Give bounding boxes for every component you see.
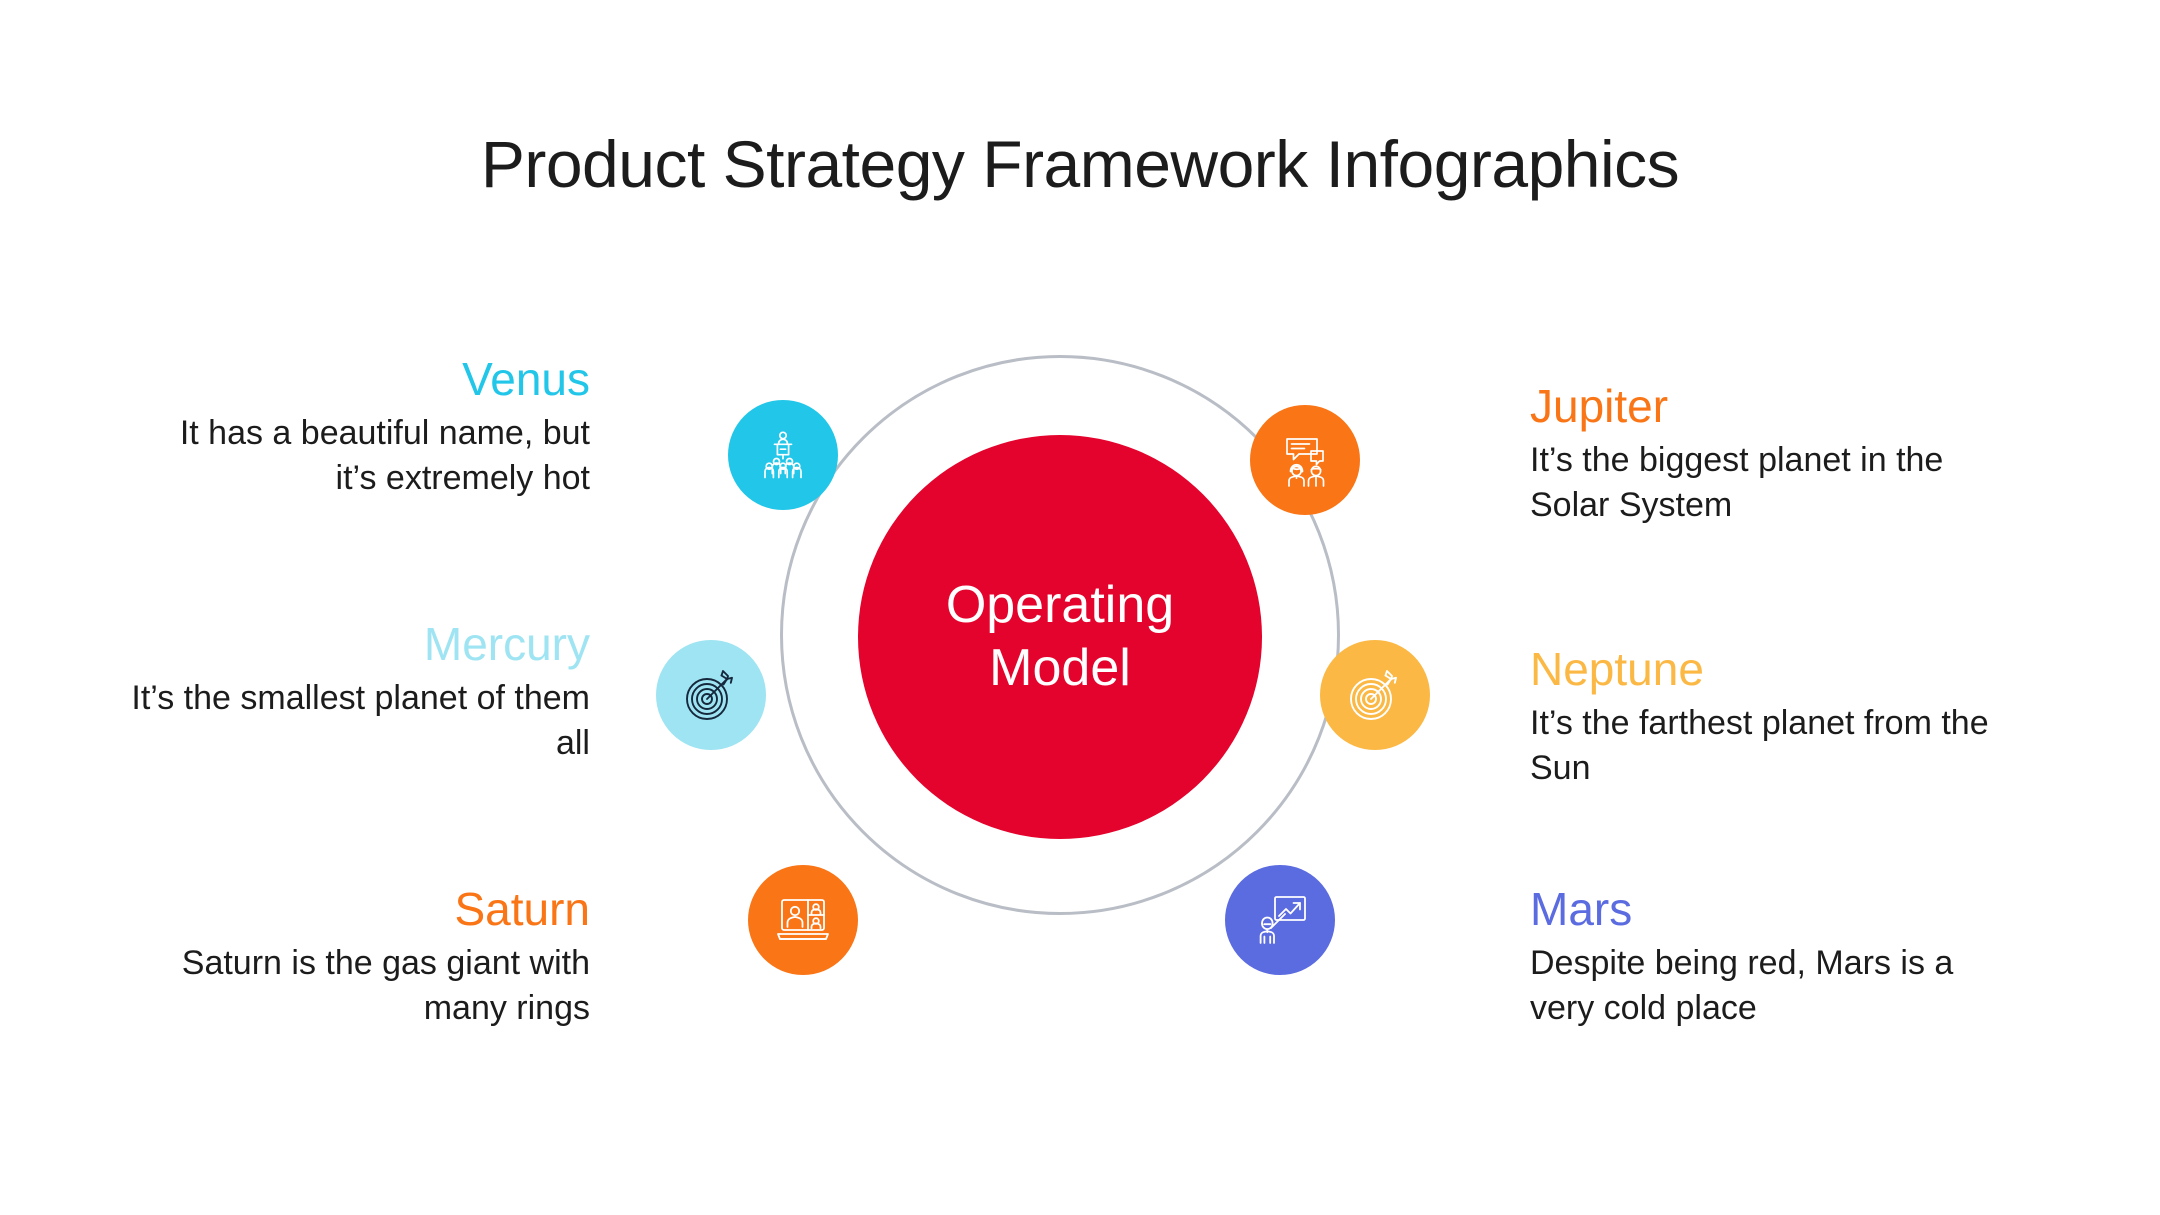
target-arrow-icon	[1347, 667, 1403, 723]
node-mars[interactable]	[1225, 865, 1335, 975]
planet-desc-neptune: It’s the farthest planet from the Sun	[1530, 701, 1990, 792]
center-circle[interactable]: Operating Model	[858, 435, 1262, 839]
video-conference-laptop-icon	[774, 891, 832, 949]
planet-name-saturn: Saturn	[130, 885, 590, 935]
node-saturn[interactable]	[748, 865, 858, 975]
planet-name-mars: Mars	[1530, 885, 1990, 935]
info-block-venus: Venus It has a beautiful name, but it’s …	[130, 355, 590, 502]
info-block-neptune: Neptune It’s the farthest planet from th…	[1530, 645, 1990, 792]
info-block-saturn: Saturn Saturn is the gas giant with many…	[130, 885, 590, 1032]
planet-name-mercury: Mercury	[130, 620, 590, 670]
center-label: Operating Model	[926, 574, 1194, 701]
page-title: Product Strategy Framework Infographics	[0, 128, 2160, 201]
node-venus[interactable]	[728, 400, 838, 510]
planet-desc-jupiter: It’s the biggest planet in the Solar Sys…	[1530, 438, 1990, 529]
node-jupiter[interactable]	[1250, 405, 1360, 515]
planet-desc-venus: It has a beautiful name, but it’s extrem…	[130, 411, 590, 502]
presenter-audience-icon	[756, 428, 810, 482]
planet-desc-mercury: It’s the smallest planet of them all	[130, 676, 590, 767]
planet-desc-saturn: Saturn is the gas giant with many rings	[130, 941, 590, 1032]
info-block-jupiter: Jupiter It’s the biggest planet in the S…	[1530, 382, 1990, 529]
framework-diagram: Operating Model	[640, 330, 1480, 1050]
discussion-speech-bubble-icon	[1278, 433, 1332, 487]
planet-name-jupiter: Jupiter	[1530, 382, 1990, 432]
target-arrow-icon	[683, 667, 739, 723]
node-mercury[interactable]	[656, 640, 766, 750]
node-neptune[interactable]	[1320, 640, 1430, 750]
info-block-mercury: Mercury It’s the smallest planet of them…	[130, 620, 590, 767]
growth-chart-presentation-icon	[1252, 892, 1308, 948]
planet-desc-mars: Despite being red, Mars is a very cold p…	[1530, 941, 1990, 1032]
planet-name-neptune: Neptune	[1530, 645, 1990, 695]
info-block-mars: Mars Despite being red, Mars is a very c…	[1530, 885, 1990, 1032]
planet-name-venus: Venus	[130, 355, 590, 405]
